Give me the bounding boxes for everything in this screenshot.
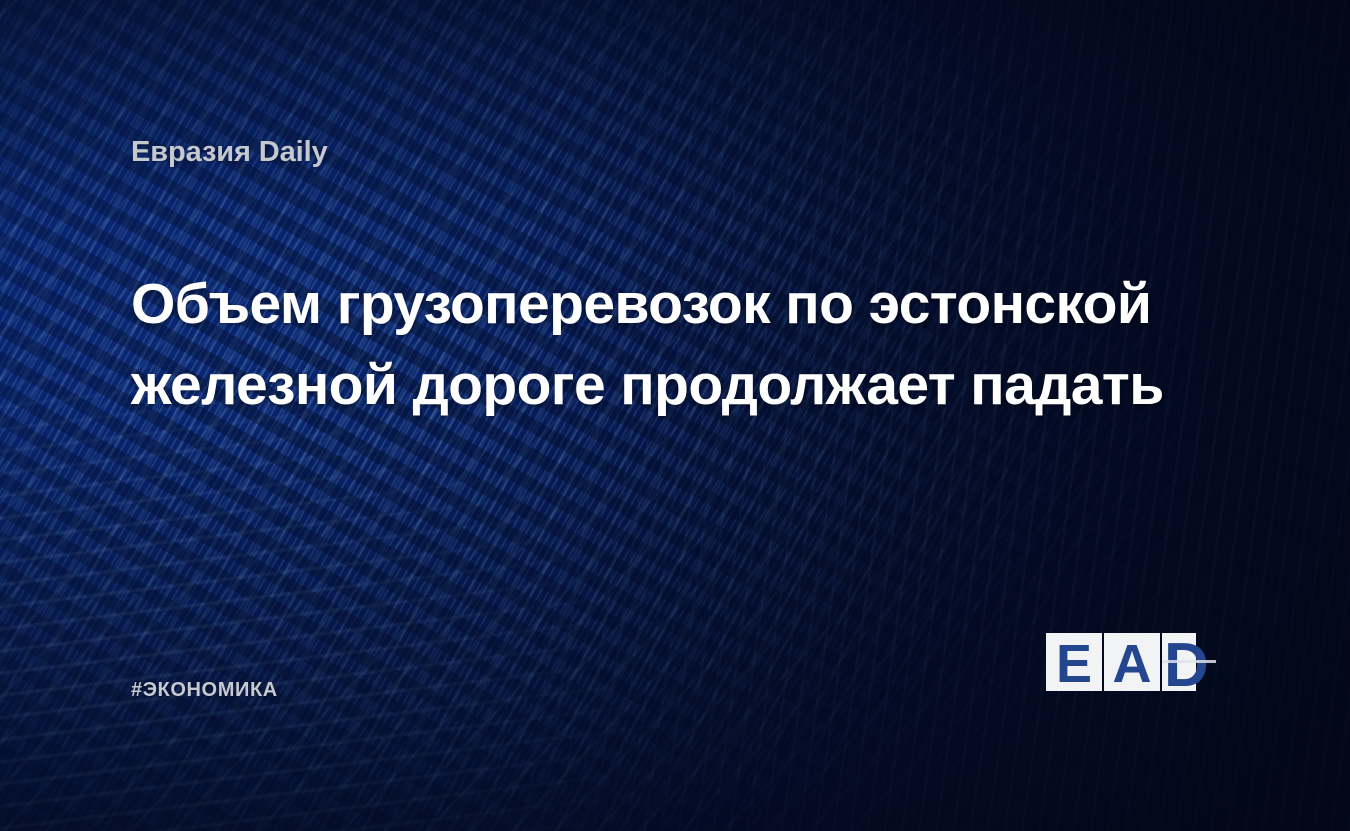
page-title: Объем грузоперевозок по эстонской железн…: [131, 264, 1181, 426]
category-hashtag: #ЭКОНОМИКА: [131, 679, 278, 702]
eadaily-logo: E A D: [1044, 630, 1224, 694]
logo-letter-e: E: [1056, 634, 1092, 694]
svg-text:A: A: [1113, 634, 1152, 694]
logo-letter-a: A: [1113, 634, 1152, 694]
logo-letter-d: D: [1162, 631, 1216, 694]
brand-name: Евразия Daily: [131, 136, 328, 169]
social-share-card: Евразия Daily Объем грузоперевозок по эс…: [0, 0, 1350, 831]
svg-text:E: E: [1056, 634, 1092, 694]
